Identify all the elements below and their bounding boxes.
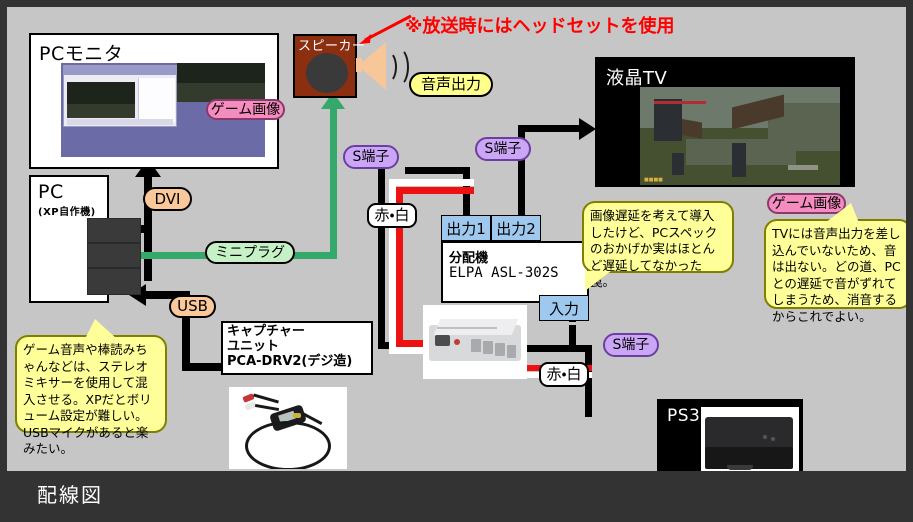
capture-unit-label: キャプチャー ユニット PCA-DRV2(デジ造) <box>221 321 373 375</box>
wire-ps3-s-riser <box>569 325 576 352</box>
pc-tower-bay-2 <box>87 243 141 268</box>
headset-note: ※放送時にはヘッドセットを使用 <box>405 12 675 38</box>
note-tv-audio: TVには音声出力を差し込んでいないため、音は出ない。どの道、PCとの遅延で音がず… <box>764 219 912 309</box>
label-audio-output: 音声出力 <box>409 72 493 97</box>
label-s-terminal-ps3: S端子 <box>603 333 659 357</box>
note-mixer: ゲーム音声や棒読みちゃんなどは、ステレオミキサーを使用して混入させる。XPだとボ… <box>15 335 167 433</box>
pc-monitor-title: PCモニタ <box>39 39 123 66</box>
splitter-photo <box>423 305 527 379</box>
splitter-name: 分配機 <box>449 247 488 266</box>
footer-title: 配線図 <box>37 479 103 508</box>
wire-s-out1-vertical <box>378 167 385 349</box>
label-s-terminal-splitter: S端子 <box>343 145 399 169</box>
note-mixer-tail <box>85 319 117 339</box>
note-delay-tail <box>585 271 611 291</box>
pc-tower-bay-3 <box>87 268 141 295</box>
capture-unit-photo <box>229 387 347 469</box>
wire-miniplug-vertical <box>330 107 337 259</box>
wire-red-bottom <box>396 340 423 347</box>
wire-ps3-s-horizontal <box>516 345 592 352</box>
splitter-input-cell: 入力 <box>539 295 589 321</box>
pc-subtitle: (XP自作機) <box>38 203 96 218</box>
diagram-canvas: PCモニタ ゲーム画像 PC (XP自作機) DVI USB ミニプラグ スピー… <box>0 0 913 522</box>
splitter-model: ELPA ASL-302S <box>449 265 559 281</box>
wire-s-out1-top <box>405 167 470 174</box>
wire-red-top <box>396 187 474 194</box>
label-red-white-capture: 赤・白 <box>367 203 417 228</box>
footer-bar: 配線図 <box>7 471 906 515</box>
speaker-horn-neck <box>356 58 362 72</box>
label-mini-plug: ミニプラグ <box>205 241 295 264</box>
headset-note-arrow-icon <box>355 12 415 47</box>
pc-title: PC <box>38 181 64 203</box>
ps3-title: PS3 <box>667 406 700 426</box>
label-red-white-ps3: 赤・白 <box>539 362 589 387</box>
lcd-tv-screenshot: ■■■■ <box>640 87 840 185</box>
lcd-tv-panel: 液晶TV ■■■■ <box>595 57 855 187</box>
note-tv-audio-tail <box>825 203 859 223</box>
wire-white-bottom <box>389 347 423 354</box>
label-usb: USB <box>169 295 216 318</box>
note-delay: 画像遅延を考えて導入したけど、PCスペックのおかげか実はほとんど遅延してなかった… <box>582 201 734 273</box>
splitter-output2-cell: 出力2 <box>491 215 541 241</box>
label-dvi: DVI <box>143 187 192 211</box>
label-s-terminal-tv: S端子 <box>475 137 531 161</box>
speaker-cone <box>306 53 348 93</box>
arrow-s-to-tv <box>579 118 596 140</box>
splitter-output1-cell: 出力1 <box>441 215 491 241</box>
splitter-panel: 分配機 ELPA ASL-302S <box>441 241 589 303</box>
label-game-image-monitor: ゲーム画像 <box>206 99 285 120</box>
sound-wave-2 <box>387 47 409 87</box>
pc-tower-bay-1 <box>87 218 141 243</box>
wire-white-top <box>389 179 474 186</box>
wire-s-out2-to-tv <box>518 125 581 132</box>
